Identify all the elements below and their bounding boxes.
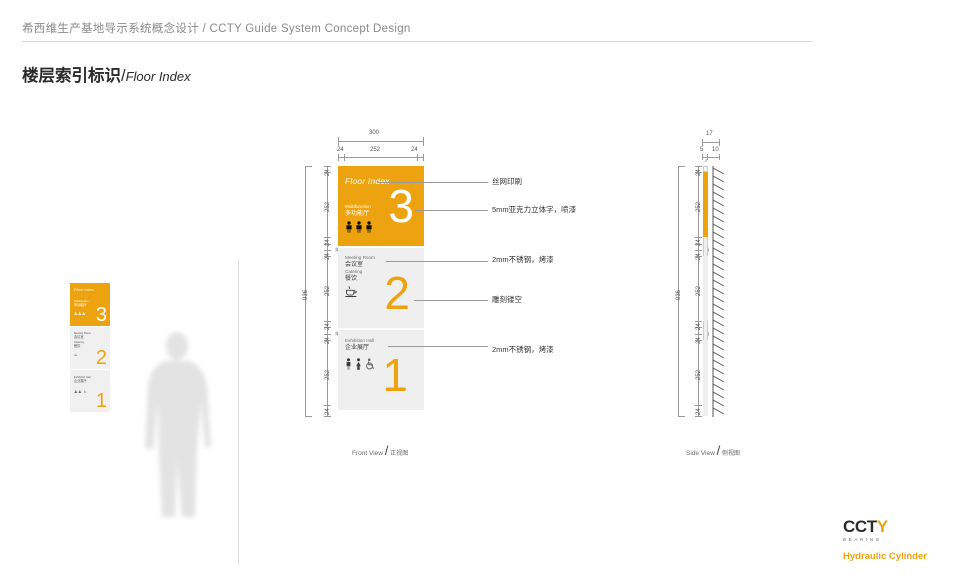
dim-height-part-2: 24 xyxy=(325,239,331,246)
logo-wordmark-ccт: CCT xyxy=(843,517,877,536)
human-scale-silhouette xyxy=(135,330,245,520)
wheelchair-icon xyxy=(365,358,376,370)
female-restroom-icon xyxy=(355,358,362,370)
mini-panel-2: Meeting Room 会议室 Catering 餐饮 ☕ 2 xyxy=(70,327,110,369)
dim-side-seg-tick-6 xyxy=(695,321,702,322)
dim-width-total-tick-r xyxy=(423,137,424,146)
dim-side-seg-tick-0 xyxy=(695,166,702,167)
page-header-title: 希西维生产基地导示系统概念设计 / CCTY Guide System Conc… xyxy=(22,20,411,36)
dim-height-seg-tick-2 xyxy=(324,237,331,238)
dim-height-seg-tick-11 xyxy=(324,416,331,417)
footer-brand-logo: CCTY BEARING Hydraulic Cylinder xyxy=(843,518,943,562)
mini-room-cn2-2: 餐饮 xyxy=(74,345,80,349)
mini-restroom-wheelchair-icon: ♟♟ ♿ xyxy=(74,389,87,394)
dim-side-tick-0 xyxy=(702,154,703,160)
dim-width-tick-0 xyxy=(338,154,339,161)
logo-subtext: BEARING xyxy=(843,537,943,542)
front-view-caption-cn: 正视图 xyxy=(390,451,408,457)
mini-person-icon-group: ♟♟♟ xyxy=(74,311,86,316)
dim-side-height-part-3: 24 xyxy=(696,253,702,260)
dim-side-height-part-2: 24 xyxy=(696,239,702,246)
dim-height-seg-tick-0 xyxy=(324,166,331,167)
dim-width-total-tick-l xyxy=(338,137,339,146)
dim-width-total: 300 xyxy=(369,130,379,136)
dim-side-seg-tick-2 xyxy=(695,237,702,238)
dim-side-part-1: 10 xyxy=(712,147,719,153)
front-view-caption-slash: / xyxy=(385,443,389,458)
mini-floor-number-3: 3 xyxy=(96,305,107,325)
dim-side-seg-tick-10 xyxy=(695,405,702,406)
mini-room-cn-1: 企业展厅 xyxy=(74,380,87,384)
dim-side-height-total: 936 xyxy=(676,290,682,300)
sign-panel-floor-3: Floor Index Multifunction 多功能厅 xyxy=(338,166,424,246)
side-view-caption-en: Side View xyxy=(686,450,715,457)
dim-side-total-tick-l xyxy=(702,139,703,146)
callout-text-0: 丝网印刷 xyxy=(492,176,522,187)
dim-side-height-part-6: 24 xyxy=(696,337,702,344)
mini-floor-number-1: 1 xyxy=(96,391,107,411)
room-label-3: Multifunction 多功能厅 xyxy=(345,204,371,218)
side-view-caption-slash: / xyxy=(717,443,721,458)
dim-side-height-part-4: 252 xyxy=(696,286,702,296)
floor-number-1: 1 xyxy=(382,352,408,398)
dim-height-part-4: 252 xyxy=(325,286,331,296)
dim-height-seg-tick-6 xyxy=(324,321,331,322)
dim-side-small: 2 xyxy=(705,158,707,163)
sign-panel-floor-1: Exhibition Hall 企业展厅 1 xyxy=(338,330,424,410)
side-profile-grey-1 xyxy=(703,256,708,321)
dim-width-sub-line xyxy=(338,157,424,158)
callout-text-3: 雕刻镂空 xyxy=(492,294,522,305)
room-label-2: Meeting Room 会议室 Catering 餐饮 xyxy=(345,255,375,283)
side-profile-grey-2 xyxy=(703,340,708,416)
male-restroom-icon xyxy=(345,358,352,370)
mini-floor-number-2: 2 xyxy=(96,348,107,368)
design-board-page: 希西维生产基地导示系统概念设计 / CCTY Guide System Conc… xyxy=(0,0,960,585)
logo-wordmark-y: Y xyxy=(877,517,888,536)
logo-wordmark: CCTY xyxy=(843,518,943,536)
dim-width-tick-2 xyxy=(417,154,418,161)
dim-side-total-line xyxy=(702,142,720,143)
callout-line-1 xyxy=(415,210,488,211)
dim-side-height-total-tick-b xyxy=(678,416,685,417)
dim-height-part-0: 24 xyxy=(325,169,331,176)
dim-side-height-part-1: 252 xyxy=(696,202,702,212)
front-view-sign: Floor Index Multifunction 多功能厅 xyxy=(338,166,424,410)
dim-height-seg-tick-8 xyxy=(324,334,331,335)
mini-coffee-cup-icon: ☕ xyxy=(74,352,78,357)
callout-text-1: 5mm亚克力立体字，喷漆 xyxy=(492,204,576,215)
room-name-cn-3: 多功能厅 xyxy=(345,210,371,218)
logo-tagline: Hydraulic Cylinder xyxy=(843,551,943,562)
callout-line-0 xyxy=(378,182,488,183)
dim-side-height-part-7: 252 xyxy=(696,370,702,380)
dim-width-part-1: 252 xyxy=(370,147,380,153)
dim-side-part-0: 5 xyxy=(700,147,703,153)
dim-height-total-tick-b xyxy=(305,416,312,417)
side-profile-amber xyxy=(703,172,708,237)
mini-room-cn-3: 多功能厅 xyxy=(74,304,87,308)
dim-side-seg-tick-8 xyxy=(695,334,702,335)
front-view-caption: Front View / 正视图 xyxy=(352,443,408,458)
person-icon xyxy=(355,221,363,233)
room-name-cn2-2: 餐饮 xyxy=(345,275,375,283)
dim-side-total: 17 xyxy=(706,131,713,137)
dim-side-total-tick-r xyxy=(719,139,720,146)
dim-height-seg-tick-4 xyxy=(324,250,331,251)
dim-side-height-part-5: 24 xyxy=(696,323,702,330)
person-icon-group-3 xyxy=(345,221,373,233)
mini-board-title: Floor Index xyxy=(74,288,94,292)
dim-height-seg-tick-10 xyxy=(324,405,331,406)
dim-side-seg-tick-4 xyxy=(695,250,702,251)
dim-side-height-total-tick-t xyxy=(678,166,685,167)
dim-height-part-8: 24 xyxy=(325,408,331,415)
dim-width-tick-3 xyxy=(423,154,424,161)
dim-width-part-2: 24 xyxy=(411,147,418,153)
dim-height-total: 936 xyxy=(303,290,309,300)
page-title: 楼层索引标识/Floor Index xyxy=(22,62,191,86)
dim-width-tick-1 xyxy=(344,154,345,161)
side-view-caption-cn: 侧视图 xyxy=(722,451,740,457)
mini-sign-preview: Floor Index Multifunction 多功能厅 ♟♟♟ 3 Mee… xyxy=(70,283,110,412)
restroom-wheelchair-icon-group xyxy=(345,358,376,370)
wall-hatch-pattern xyxy=(712,166,725,417)
side-profile-joint-2 xyxy=(703,321,708,340)
dim-side-height-part-0: 24 xyxy=(696,169,702,176)
floor-number-2: 2 xyxy=(384,270,410,316)
dim-side-height-part-8: 24 xyxy=(696,408,702,415)
person-icon xyxy=(345,221,353,233)
room-name-cn-2: 会议室 xyxy=(345,261,375,269)
board-title: Floor Index xyxy=(345,176,390,186)
callout-line-4 xyxy=(388,346,488,347)
callout-line-3 xyxy=(414,300,488,301)
callout-text-2: 2mm不锈钢，烤漆 xyxy=(492,254,554,265)
sign-panel-floor-2: Meeting Room 会议室 Catering 餐饮 2 xyxy=(338,248,424,328)
room-label-1: Exhibition Hall 企业展厅 xyxy=(345,338,374,352)
floor-number-3: 3 xyxy=(388,183,414,229)
dim-side-seg-tick-11 xyxy=(695,416,702,417)
mini-panel-3: Floor Index Multifunction 多功能厅 ♟♟♟ 3 xyxy=(70,283,110,326)
dim-width-part-0: 24 xyxy=(337,147,344,153)
side-view-caption: Side View / 侧视图 xyxy=(686,443,740,458)
person-icon xyxy=(365,221,373,233)
callout-text-4: 2mm不锈钢，烤漆 xyxy=(492,344,554,355)
coffee-cup-icon xyxy=(345,286,359,298)
dim-side-tick-2 xyxy=(719,154,720,160)
callout-line-2 xyxy=(386,261,488,262)
side-profile-joint-1 xyxy=(703,237,708,256)
header-divider xyxy=(22,41,812,42)
room-name-cn-1: 企业展厅 xyxy=(345,344,374,352)
coffee-cup-icon-group xyxy=(345,286,359,298)
mini-panel-1: Exhibition Hall 企业展厅 ♟♟ ♿ 1 xyxy=(70,370,110,412)
dim-height-part-1: 252 xyxy=(325,202,331,212)
dim-height-total-tick-t xyxy=(305,166,312,167)
front-view-caption-en: Front View xyxy=(352,450,383,457)
dim-height-part-6: 24 xyxy=(325,337,331,344)
dim-height-part-5: 24 xyxy=(325,323,331,330)
mini-room-cn-2: 会议室 xyxy=(74,336,84,340)
dim-width-total-line xyxy=(338,141,424,142)
dim-height-part-7: 252 xyxy=(325,370,331,380)
page-title-en: Floor Index xyxy=(126,69,191,84)
dim-height-part-3: 24 xyxy=(325,253,331,260)
page-title-cn: 楼层索引标识 xyxy=(22,67,121,85)
